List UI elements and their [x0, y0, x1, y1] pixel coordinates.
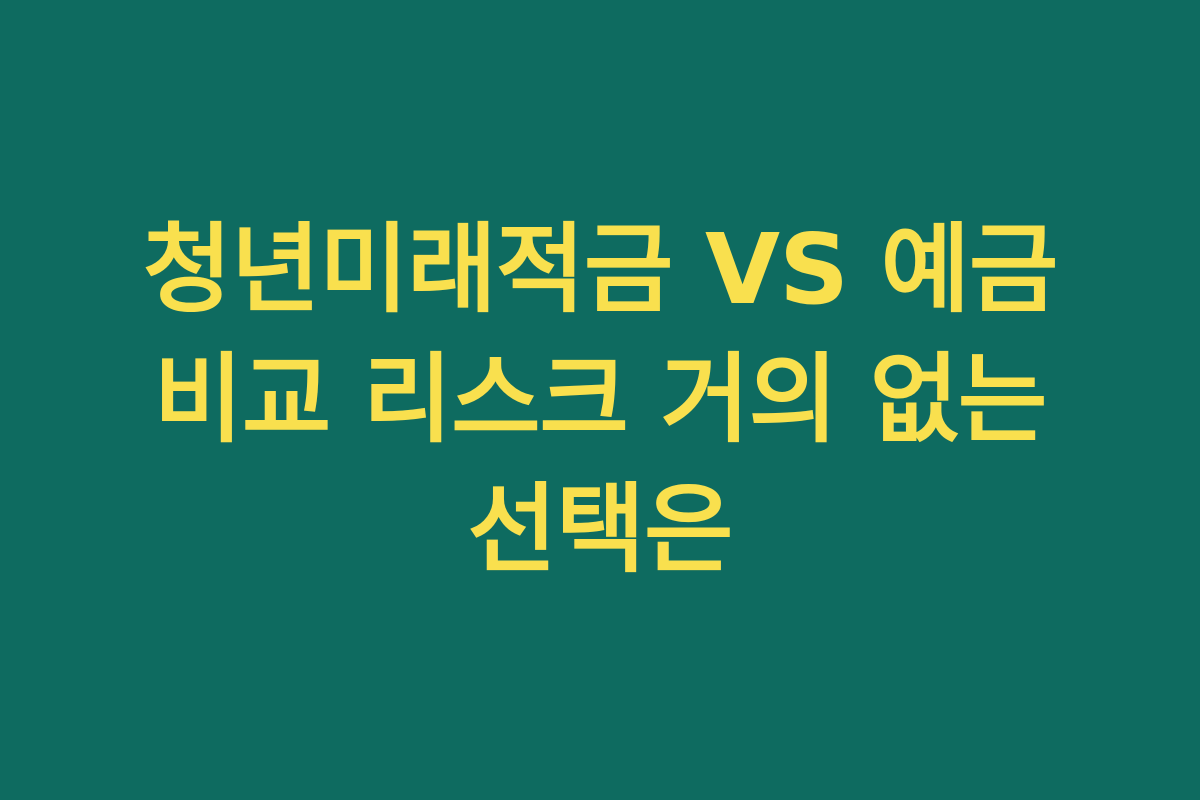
headline-text: 청년미래적금 VS 예금 비교 리스크 거의 없는 선택은 — [100, 205, 1100, 595]
headline-line-2: 비교 리스크 거의 없는 — [100, 335, 1100, 465]
headline-line-3: 선택은 — [100, 465, 1100, 595]
headline-line-1: 청년미래적금 VS 예금 — [100, 205, 1100, 335]
thumbnail-banner: 청년미래적금 VS 예금 비교 리스크 거의 없는 선택은 — [0, 0, 1200, 800]
